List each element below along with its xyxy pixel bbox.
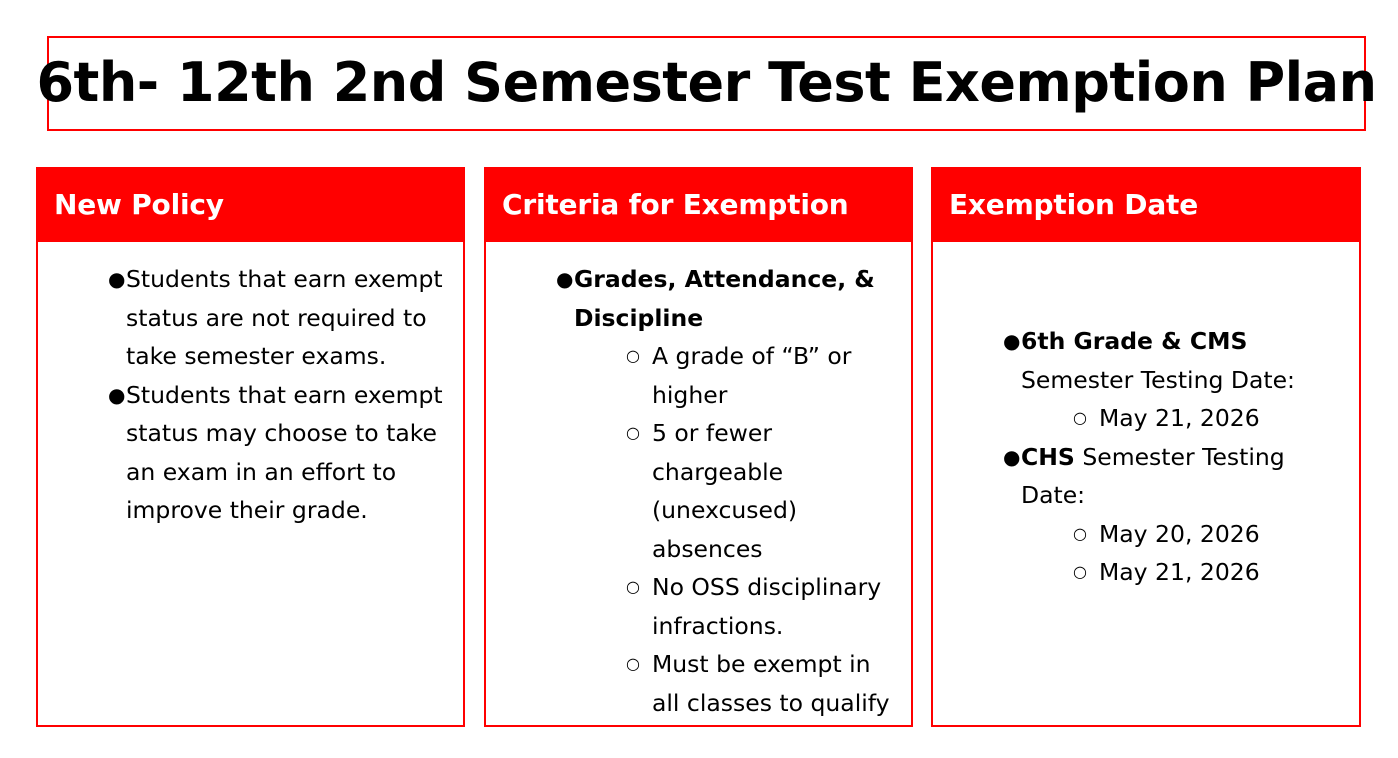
card-new-policy: New Policy ● Students that earn exempt s… xyxy=(36,167,465,727)
bullet-disc-icon: ● xyxy=(108,376,120,415)
sub-list-item: ○ May 21, 2026 xyxy=(1021,553,1351,592)
list-item: ● Grades, Attendance, & Discipline ○ A g… xyxy=(494,260,903,722)
card-body-criteria-for-exemption: ● Grades, Attendance, & Discipline ○ A g… xyxy=(484,242,913,727)
sub-list-item: ○ May 21, 2026 xyxy=(1021,399,1351,438)
bullet-list: ● 6th Grade & CMS Semester Testing Date:… xyxy=(941,322,1351,592)
list-item-text: Students that earn exempt status are not… xyxy=(126,265,443,370)
bullet-circle-icon: ○ xyxy=(1073,553,1087,592)
card-header-exemption-date: Exemption Date xyxy=(931,167,1361,242)
bullet-circle-icon: ○ xyxy=(626,568,640,607)
sub-list-item-text: May 20, 2026 xyxy=(1099,520,1260,548)
page-title: 6th- 12th 2nd Semester Test Exemption Pl… xyxy=(36,55,1376,112)
bullet-circle-icon: ○ xyxy=(626,414,640,453)
sub-list-item: ○ 5 or fewer chargeable (unexcused) abse… xyxy=(574,414,903,568)
card-header-label: Criteria for Exemption xyxy=(502,188,849,221)
sub-list-item: ○ Must be exempt in all classes to quali… xyxy=(574,645,903,722)
card-header-label: New Policy xyxy=(54,188,224,221)
list-item: ● 6th Grade & CMS Semester Testing Date:… xyxy=(941,322,1351,438)
sub-list-item-text: A grade of “B” or higher xyxy=(652,342,851,409)
bullet-disc-icon: ● xyxy=(556,260,568,299)
list-item-text: Students that earn exempt status may cho… xyxy=(126,381,443,525)
list-item: ● Students that earn exempt status are n… xyxy=(46,260,455,376)
list-item-bold-prefix: 6th Grade & CMS xyxy=(1021,327,1247,355)
card-body-exemption-date: ● 6th Grade & CMS Semester Testing Date:… xyxy=(931,242,1361,727)
sub-list-item-text: No OSS disciplinary infractions. xyxy=(652,573,881,640)
sub-list-item: ○ No OSS disciplinary infractions. xyxy=(574,568,903,645)
card-exemption-date: Exemption Date ● 6th Grade & CMS Semeste… xyxy=(931,167,1361,727)
list-item: ● Students that earn exempt status may c… xyxy=(46,376,455,530)
sub-bullet-list: ○ A grade of “B” or higher ○ 5 or fewer … xyxy=(574,337,903,722)
card-header-label: Exemption Date xyxy=(949,188,1198,221)
bullet-list: ● Students that earn exempt status are n… xyxy=(46,260,455,530)
card-criteria-for-exemption: Criteria for Exemption ● Grades, Attenda… xyxy=(484,167,913,727)
list-item-text: Semester Testing Date: xyxy=(1021,366,1295,394)
sub-bullet-list: ○ May 20, 2026 ○ May 21, 2026 xyxy=(1021,515,1351,592)
sub-list-item-text: 5 or fewer chargeable (unexcused) absenc… xyxy=(652,419,797,563)
list-item: ● CHS Semester Testing Date: ○ May 20, 2… xyxy=(941,438,1351,592)
list-item-text: Grades, Attendance, & Discipline xyxy=(574,265,875,332)
bullet-circle-icon: ○ xyxy=(626,645,640,684)
sub-list-item-text: May 21, 2026 xyxy=(1099,558,1260,586)
bullet-list: ● Grades, Attendance, & Discipline ○ A g… xyxy=(494,260,903,722)
sub-list-item-text: May 21, 2026 xyxy=(1099,404,1260,432)
sub-bullet-list: ○ May 21, 2026 xyxy=(1021,399,1351,438)
sub-list-item: ○ May 20, 2026 xyxy=(1021,515,1351,554)
bullet-disc-icon: ● xyxy=(1003,438,1015,477)
bullet-circle-icon: ○ xyxy=(1073,399,1087,438)
card-body-new-policy: ● Students that earn exempt status are n… xyxy=(36,242,465,727)
title-banner: 6th- 12th 2nd Semester Test Exemption Pl… xyxy=(47,36,1366,131)
spacer xyxy=(941,260,1351,322)
sub-list-item: ○ A grade of “B” or higher xyxy=(574,337,903,414)
card-header-criteria-for-exemption: Criteria for Exemption xyxy=(484,167,913,242)
card-header-new-policy: New Policy xyxy=(36,167,465,242)
bullet-disc-icon: ● xyxy=(108,260,120,299)
bullet-circle-icon: ○ xyxy=(1073,515,1087,554)
bullet-disc-icon: ● xyxy=(1003,322,1015,361)
list-item-bold-prefix: CHS xyxy=(1021,443,1075,471)
bullet-circle-icon: ○ xyxy=(626,337,640,376)
sub-list-item-text: Must be exempt in all classes to qualify xyxy=(652,650,890,717)
